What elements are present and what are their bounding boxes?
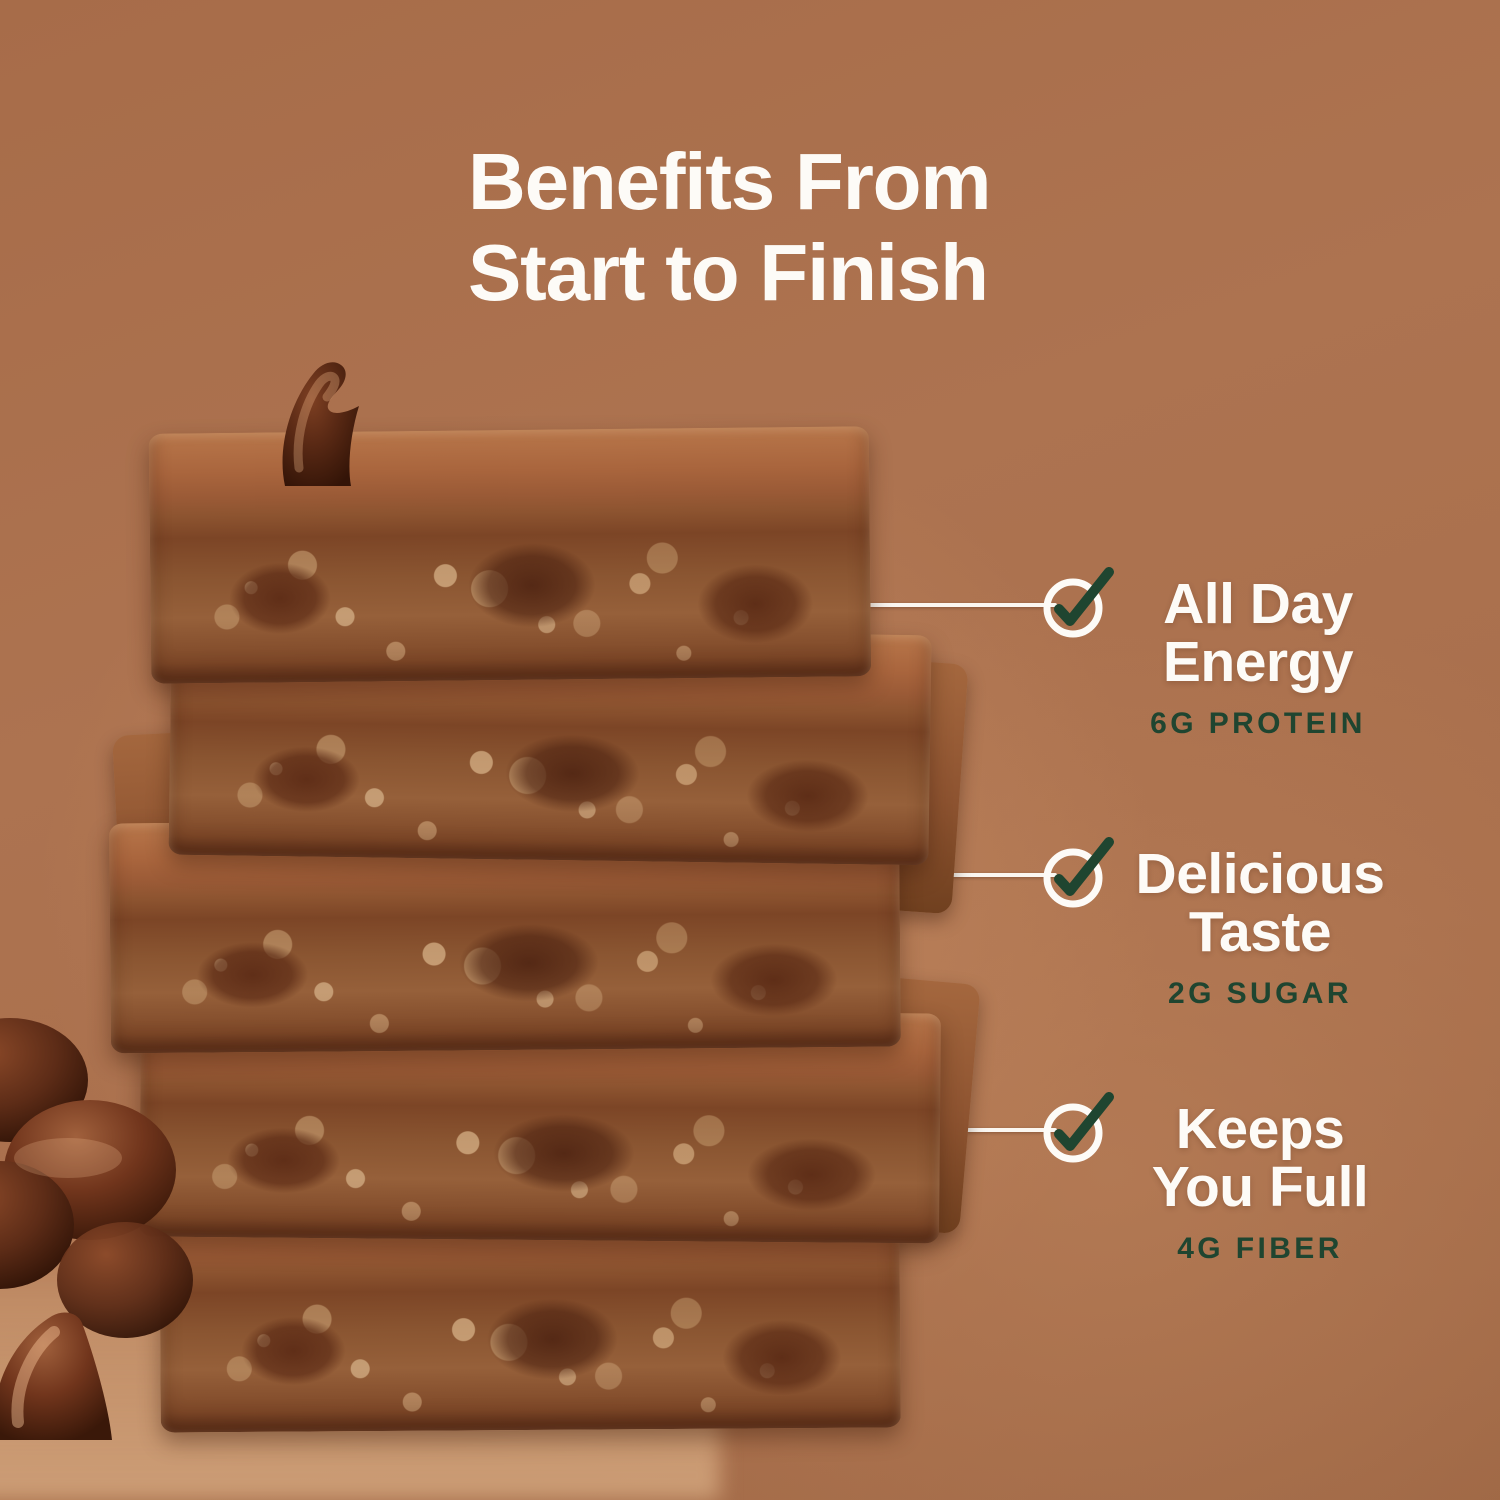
benefit-title-2: Delicious Taste <box>1110 845 1410 961</box>
benefit-title-3: Keeps You Full <box>1112 1100 1408 1216</box>
benefit-stat-3: 4G FIBER <box>1112 1232 1408 1266</box>
check-circle-icon <box>1037 566 1115 644</box>
benefit-stat-1: 6G PROTEIN <box>1118 707 1398 741</box>
chocolate-chip-garnish-icon <box>255 358 395 488</box>
check-circle-icon <box>1037 836 1115 914</box>
headline-line-1: Benefits From <box>468 137 990 226</box>
promo-image-canvas: Benefits From Start to Finish All Day En… <box>0 0 1500 1500</box>
page-headline: Benefits From Start to Finish <box>468 136 1108 318</box>
scattered-chocolate-chips-icon <box>0 1010 240 1490</box>
check-circle-icon <box>1037 1091 1115 1169</box>
product-photo <box>0 330 1010 1500</box>
benefit-title-1: All Day Energy <box>1118 575 1398 691</box>
benefit-stat-2: 2G SUGAR <box>1110 977 1410 1011</box>
headline-line-2: Start to Finish <box>468 227 1108 318</box>
